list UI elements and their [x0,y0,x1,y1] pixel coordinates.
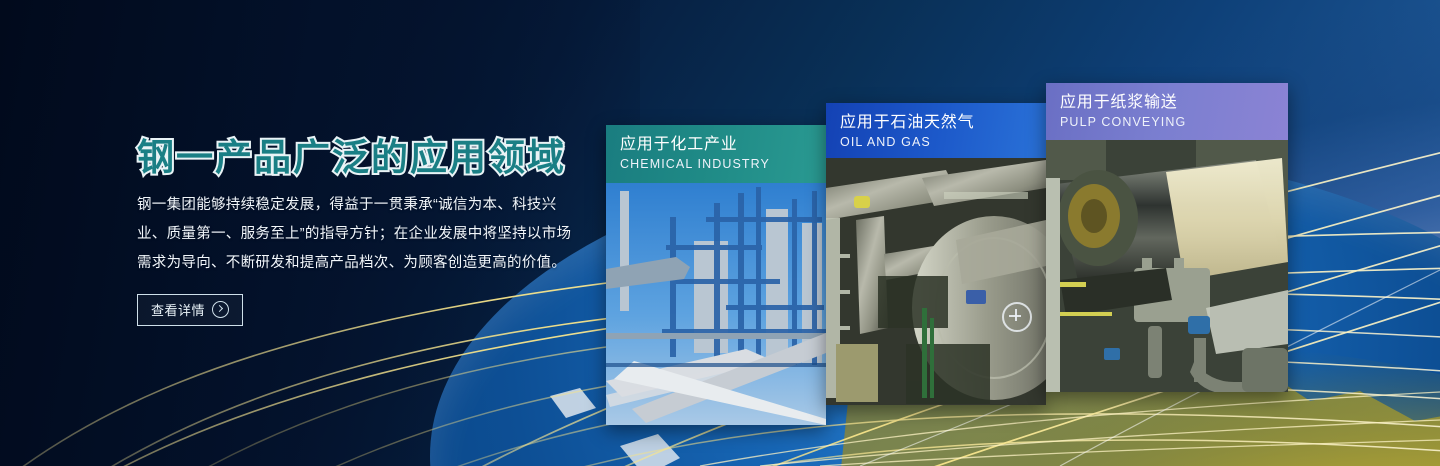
card-title-zh: 应用于化工产业 [620,134,826,156]
card-title-en: OIL AND GAS [840,134,1046,150]
hero-text-block: 钢一产品广泛的应用领域 钢一集团能够持续稳定发展，得益于一贯秉承“诚信为本、科技… [137,138,597,326]
card-title-en: CHEMICAL INDUSTRY [620,156,826,172]
card-title-en: PULP CONVEYING [1060,114,1288,130]
card-header-pulp: 应用于纸浆输送 PULP CONVEYING [1046,83,1288,140]
card-image-pulp [1046,140,1288,392]
application-card-pulp[interactable]: 应用于纸浆输送 PULP CONVEYING [1046,83,1288,392]
chevron-right-circle-icon [212,301,229,318]
application-card-chemical[interactable]: 应用于化工产业 CHEMICAL INDUSTRY [606,125,826,425]
plus-zoom-icon[interactable] [1002,302,1032,332]
view-details-button[interactable]: 查看详情 [137,294,243,326]
hero-banner: 钢一产品广泛的应用领域 钢一集团能够持续稳定发展，得益于一贯秉承“诚信为本、科技… [0,0,1440,466]
card-header-oil-gas: 应用于石油天然气 OIL AND GAS [826,103,1046,158]
card-header-chemical: 应用于化工产业 CHEMICAL INDUSTRY [606,125,826,183]
application-card-oil-gas[interactable]: 应用于石油天然气 OIL AND GAS [826,103,1046,405]
hero-description: 钢一集团能够持续稳定发展，得益于一贯秉承“诚信为本、科技兴业、质量第一、服务至上… [137,191,577,278]
view-details-label: 查看详情 [151,300,205,319]
page-title: 钢一产品广泛的应用领域 [137,138,597,179]
card-title-zh: 应用于纸浆输送 [1060,92,1288,114]
card-image-chemical [606,183,826,425]
card-title-zh: 应用于石油天然气 [840,112,1046,134]
card-image-oil-gas [826,158,1046,405]
